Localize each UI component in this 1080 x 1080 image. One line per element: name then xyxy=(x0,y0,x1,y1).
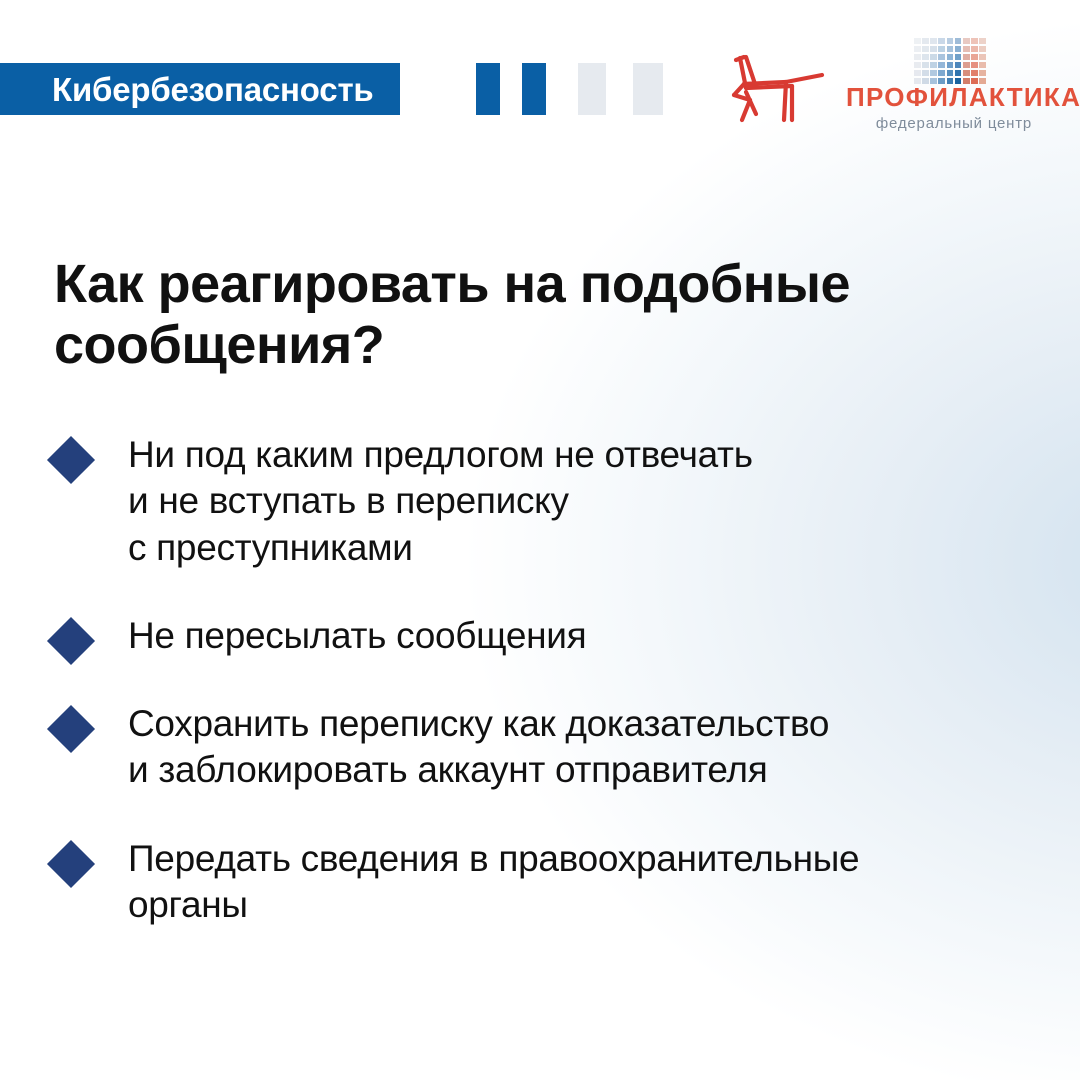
list-item: Сохранить переписку как доказательство и… xyxy=(54,701,1044,794)
organization-logo: ПРОФИЛАКТИКА федеральный центр xyxy=(722,38,1062,138)
poster-canvas: Кибербезопасность xyxy=(0,0,1080,1080)
list-item-text: Передать сведения в правоохранительные о… xyxy=(128,836,1044,929)
diamond-bullet-icon xyxy=(47,617,95,665)
list-item: Передать сведения в правоохранительные о… xyxy=(54,836,1044,929)
page-title: Как реагировать на подобные сообщения? xyxy=(54,254,984,376)
stripe-grey-1 xyxy=(578,63,606,115)
list-item-text: Не пересылать сообщения xyxy=(128,613,1044,659)
pixel-grid-mark xyxy=(914,38,986,84)
category-banner: Кибербезопасность xyxy=(0,63,400,115)
diamond-bullet-icon xyxy=(47,436,95,484)
stripe-grey-2 xyxy=(633,63,663,115)
stripe-blue-1 xyxy=(476,63,500,115)
diamond-bullet-icon xyxy=(47,705,95,753)
category-banner-label: Кибербезопасность xyxy=(52,73,374,106)
diamond-bullet-icon xyxy=(47,839,95,887)
horse-icon xyxy=(722,48,832,128)
recommendation-list: Ни под каким предлогом не отвечать и не … xyxy=(54,432,1044,928)
list-item: Не пересылать сообщения xyxy=(54,613,1044,659)
brand-name: ПРОФИЛАКТИКА xyxy=(846,84,1062,110)
brand-subtitle: федеральный центр xyxy=(846,116,1062,131)
stripe-blue-2 xyxy=(522,63,546,115)
list-item-text: Ни под каким предлогом не отвечать и не … xyxy=(128,432,1044,571)
list-item: Ни под каким предлогом не отвечать и не … xyxy=(54,432,1044,571)
header: Кибербезопасность xyxy=(0,0,1080,150)
list-item-text: Сохранить переписку как доказательство и… xyxy=(128,701,1044,794)
